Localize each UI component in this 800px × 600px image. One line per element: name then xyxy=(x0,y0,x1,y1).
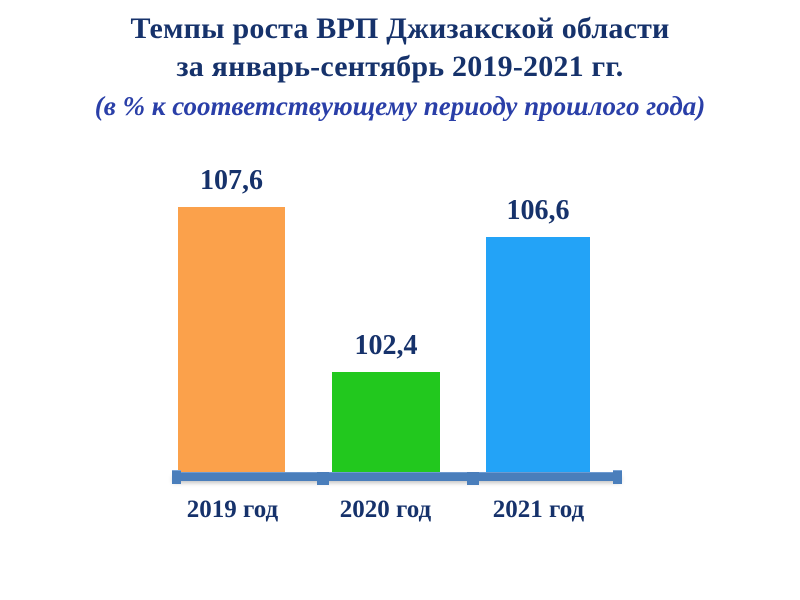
axis-tick-1 xyxy=(317,472,329,485)
bar-value-label-2021: 106,6 xyxy=(456,195,620,227)
category-axis xyxy=(172,470,622,484)
category-label-2019: 2019 год xyxy=(160,495,305,525)
bar-rect-2019 xyxy=(178,207,285,478)
bar-2020: 102,4 xyxy=(332,372,440,478)
bar-2019: 107,6 xyxy=(178,207,285,478)
axis-line xyxy=(172,472,622,481)
bar-value-label-2019: 107,6 xyxy=(148,165,315,197)
axis-end-cap-right xyxy=(613,470,622,484)
axis-tick-2 xyxy=(467,472,479,485)
bar-value-label-2020: 102,4 xyxy=(302,330,470,362)
bar-rect-2020 xyxy=(332,372,440,478)
category-label-2021: 2021 год xyxy=(466,495,611,525)
chart-plot-area: 107,6 102,4 106,6 2019 год 2020 год 2021… xyxy=(0,0,800,600)
bar-rect-2021 xyxy=(486,237,590,478)
category-label-2020: 2020 год xyxy=(313,495,458,525)
bar-2021: 106,6 xyxy=(486,237,590,478)
axis-end-cap-left xyxy=(172,470,181,484)
